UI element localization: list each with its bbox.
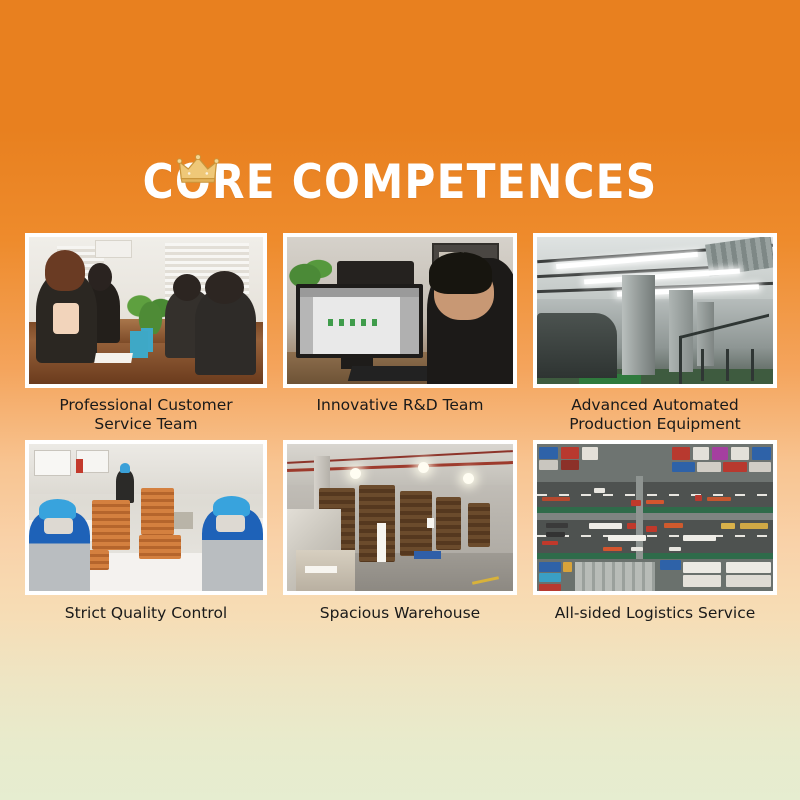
card-caption: Advanced Automated Production Equipment	[567, 396, 743, 434]
competence-card-grid: Professional Customer Service Team	[25, 233, 775, 623]
card-photo[interactable]	[25, 440, 267, 595]
card-photo[interactable]	[533, 440, 777, 595]
card-photo[interactable]	[25, 233, 267, 388]
quality-control-photo	[29, 444, 263, 591]
card-caption: Spacious Warehouse	[318, 604, 482, 623]
page-title: CORE COMPETENCES	[0, 152, 800, 214]
card-strict-quality-control[interactable]: Strict Quality Control	[25, 440, 267, 623]
card-photo[interactable]	[283, 233, 517, 388]
rnd-workstation-photo	[287, 237, 513, 384]
card-professional-customer-service-team[interactable]: Professional Customer Service Team	[25, 233, 267, 434]
printing-press-photo	[537, 237, 773, 384]
crown-icon	[176, 154, 220, 184]
card-caption: Professional Customer Service Team	[57, 396, 234, 434]
warehouse-photo	[287, 444, 513, 591]
card-caption: All-sided Logistics Service	[553, 604, 758, 623]
card-spacious-warehouse[interactable]: Spacious Warehouse	[283, 440, 517, 623]
header: CORE COMPETENCES	[0, 152, 800, 214]
card-caption: Innovative R&D Team	[314, 396, 485, 415]
card-advanced-automated-production-equipment[interactable]: Advanced Automated Production Equipment	[533, 233, 777, 434]
meeting-room-photo	[29, 237, 263, 384]
card-photo[interactable]	[283, 440, 517, 595]
bottom-gradient-overlay	[0, 620, 800, 800]
card-innovative-rnd-team[interactable]: Innovative R&D Team	[283, 233, 517, 434]
core-competences-banner: CORE COMPETENCES Professional Customer S…	[0, 0, 800, 800]
logistics-aerial-photo	[537, 444, 773, 591]
card-caption: Strict Quality Control	[63, 604, 229, 623]
card-photo[interactable]	[533, 233, 777, 388]
card-all-sided-logistics-service[interactable]: All-sided Logistics Service	[533, 440, 777, 623]
